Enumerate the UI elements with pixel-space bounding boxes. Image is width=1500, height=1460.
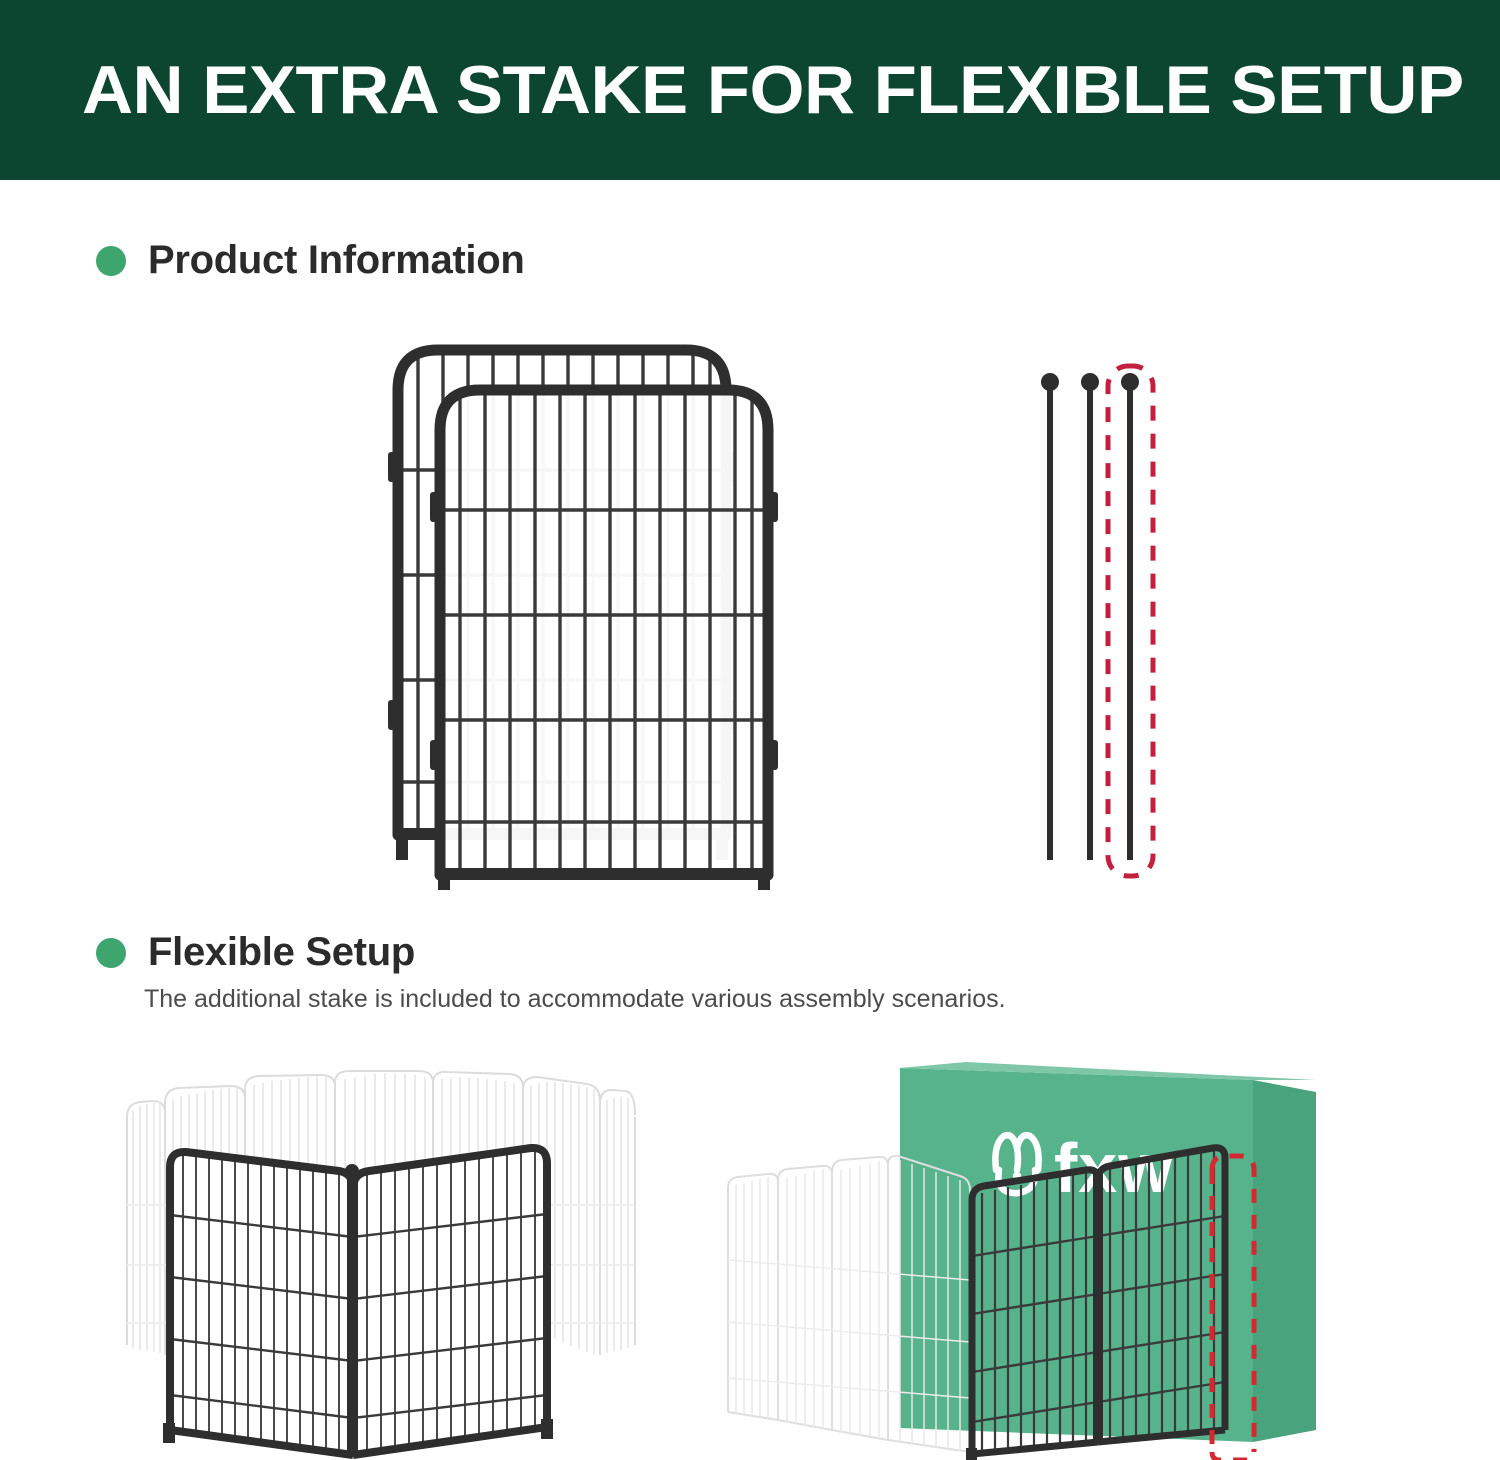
infographic-page: AN EXTRA STAKE FOR FLEXIBLE SETUP Produc… xyxy=(0,0,1500,1460)
bullet-dot-icon xyxy=(96,938,126,968)
section-description: The additional stake is included to acco… xyxy=(144,985,1006,1014)
playpen-highlighted-panel-right xyxy=(345,1147,553,1457)
hinge-knuckle xyxy=(765,492,778,522)
section-heading-flexible-setup: Flexible Setup xyxy=(96,930,415,975)
hinge-post xyxy=(1093,1172,1103,1444)
stake-2 xyxy=(1081,373,1099,860)
bullet-dot-icon xyxy=(96,246,126,276)
section-title: Flexible Setup xyxy=(148,930,415,975)
stake-1 xyxy=(1041,373,1059,860)
hinge-knuckle xyxy=(430,740,443,770)
hinge-knuckle xyxy=(765,740,778,770)
hinge-knuckle xyxy=(430,492,443,522)
fence-panel-front xyxy=(430,390,778,890)
hinge-knuckle xyxy=(388,452,401,482)
hinge-knuckle xyxy=(388,700,401,730)
ground-stakes-illustration xyxy=(1020,360,1180,890)
fence-panels-illustration xyxy=(350,330,820,890)
stake-3 xyxy=(1121,373,1139,860)
page-header: AN EXTRA STAKE FOR FLEXIBLE SETUP xyxy=(0,0,1500,180)
page-title: AN EXTRA STAKE FOR FLEXIBLE SETUP xyxy=(82,51,1464,129)
playpen-highlighted-panel-left xyxy=(163,1151,353,1455)
section-heading-product-information: Product Information xyxy=(96,238,525,283)
octagonal-playpen-illustration xyxy=(95,1055,675,1460)
section-title: Product Information xyxy=(148,238,525,283)
hinge-post xyxy=(347,1173,358,1457)
wall-setup-illustration: fxw fxw xyxy=(720,1060,1370,1460)
